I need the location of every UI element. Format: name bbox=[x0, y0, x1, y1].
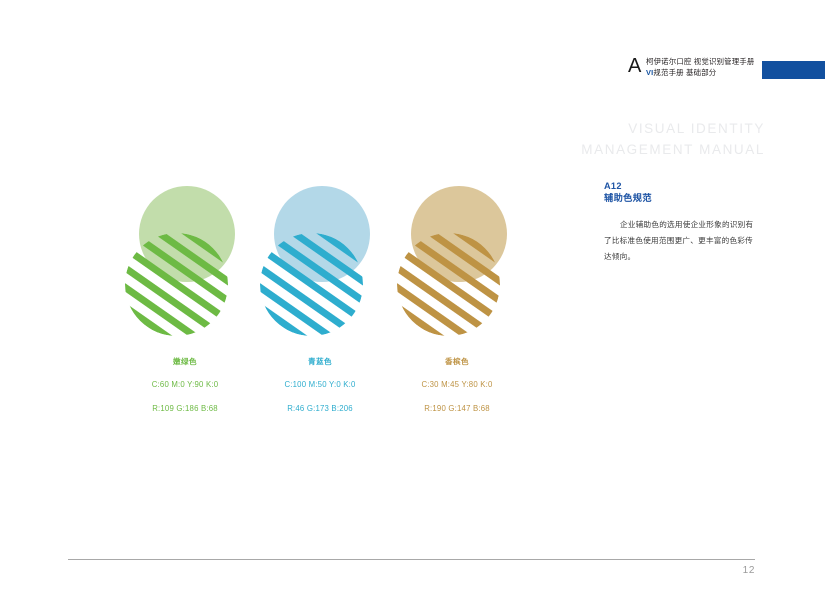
swatch-group-champagne: 香槟色 C:30 M:45 Y:80 K:0 R:190 G:147 B:68 bbox=[392, 186, 522, 336]
document-header: A 柯伊诺尔口腔 视觉识别管理手册 VI规范手册 基础部分 bbox=[628, 54, 825, 86]
swatch-name: 青蓝色 bbox=[255, 356, 385, 368]
header-title-line-2-text: 规范手册 基础部分 bbox=[653, 68, 716, 77]
swatch-labels-blue: 青蓝色 C:100 M:50 Y:0 K:0 R:46 G:173 B:206 bbox=[255, 356, 385, 415]
swatch-group-blue: 青蓝色 C:100 M:50 Y:0 K:0 R:46 G:173 B:206 bbox=[255, 186, 385, 336]
swatch-group-green: 嫩绿色 C:60 M:0 Y:90 K:0 R:109 G:186 B:68 bbox=[120, 186, 250, 336]
swatch-name: 嫩绿色 bbox=[120, 356, 250, 368]
footer-divider bbox=[68, 559, 755, 560]
swatch-art-champagne bbox=[397, 186, 517, 336]
header-letter-mark: A bbox=[628, 56, 641, 76]
watermark-line-2: MANAGEMENT MANUAL bbox=[560, 139, 765, 160]
swatch-rgb-values: R:109 G:186 B:68 bbox=[120, 403, 250, 415]
watermark-line-1: VISUAL IDENTITY bbox=[560, 118, 765, 139]
watermark-heading: VISUAL IDENTITY MANAGEMENT MANUAL bbox=[560, 118, 765, 160]
section-body-text: 企业辅助色的选用使企业形象的识别有了比标准色使用范围更广、更丰富的色彩传达倾向。 bbox=[604, 217, 756, 265]
header-accent-bar bbox=[762, 61, 825, 79]
swatch-rgb-values: R:46 G:173 B:206 bbox=[255, 403, 385, 415]
page-number: 12 bbox=[715, 564, 755, 577]
striped-circle-icon bbox=[397, 233, 500, 336]
swatch-labels-champagne: 香槟色 C:30 M:45 Y:80 K:0 R:190 G:147 B:68 bbox=[392, 356, 522, 415]
swatch-labels-green: 嫩绿色 C:60 M:0 Y:90 K:0 R:109 G:186 B:68 bbox=[120, 356, 250, 415]
document-page: A 柯伊诺尔口腔 视觉识别管理手册 VI规范手册 基础部分 VISUAL IDE… bbox=[0, 0, 825, 613]
header-title-lines: 柯伊诺尔口腔 视觉识别管理手册 VI规范手册 基础部分 bbox=[646, 57, 766, 78]
section-code: A12 bbox=[604, 180, 774, 192]
striped-circle-icon bbox=[125, 233, 228, 336]
section-block: A12 辅助色规范 企业辅助色的选用使企业形象的识别有了比标准色使用范围更广、更… bbox=[604, 180, 774, 265]
swatch-cmyk-values: C:30 M:45 Y:80 K:0 bbox=[392, 379, 522, 391]
swatch-name: 香槟色 bbox=[392, 356, 522, 368]
header-title-line-1: 柯伊诺尔口腔 视觉识别管理手册 bbox=[646, 57, 766, 68]
swatch-rgb-values: R:190 G:147 B:68 bbox=[392, 403, 522, 415]
swatch-art-blue bbox=[260, 186, 380, 336]
section-title: 辅助色规范 bbox=[604, 192, 774, 205]
swatch-cmyk-values: C:60 M:0 Y:90 K:0 bbox=[120, 379, 250, 391]
swatch-cmyk-values: C:100 M:50 Y:0 K:0 bbox=[255, 379, 385, 391]
header-title-line-2: VI规范手册 基础部分 bbox=[646, 68, 766, 79]
swatch-art-green bbox=[125, 186, 245, 336]
color-swatch-gallery: 嫩绿色 C:60 M:0 Y:90 K:0 R:109 G:186 B:68 bbox=[120, 186, 540, 416]
striped-circle-icon bbox=[260, 233, 363, 336]
